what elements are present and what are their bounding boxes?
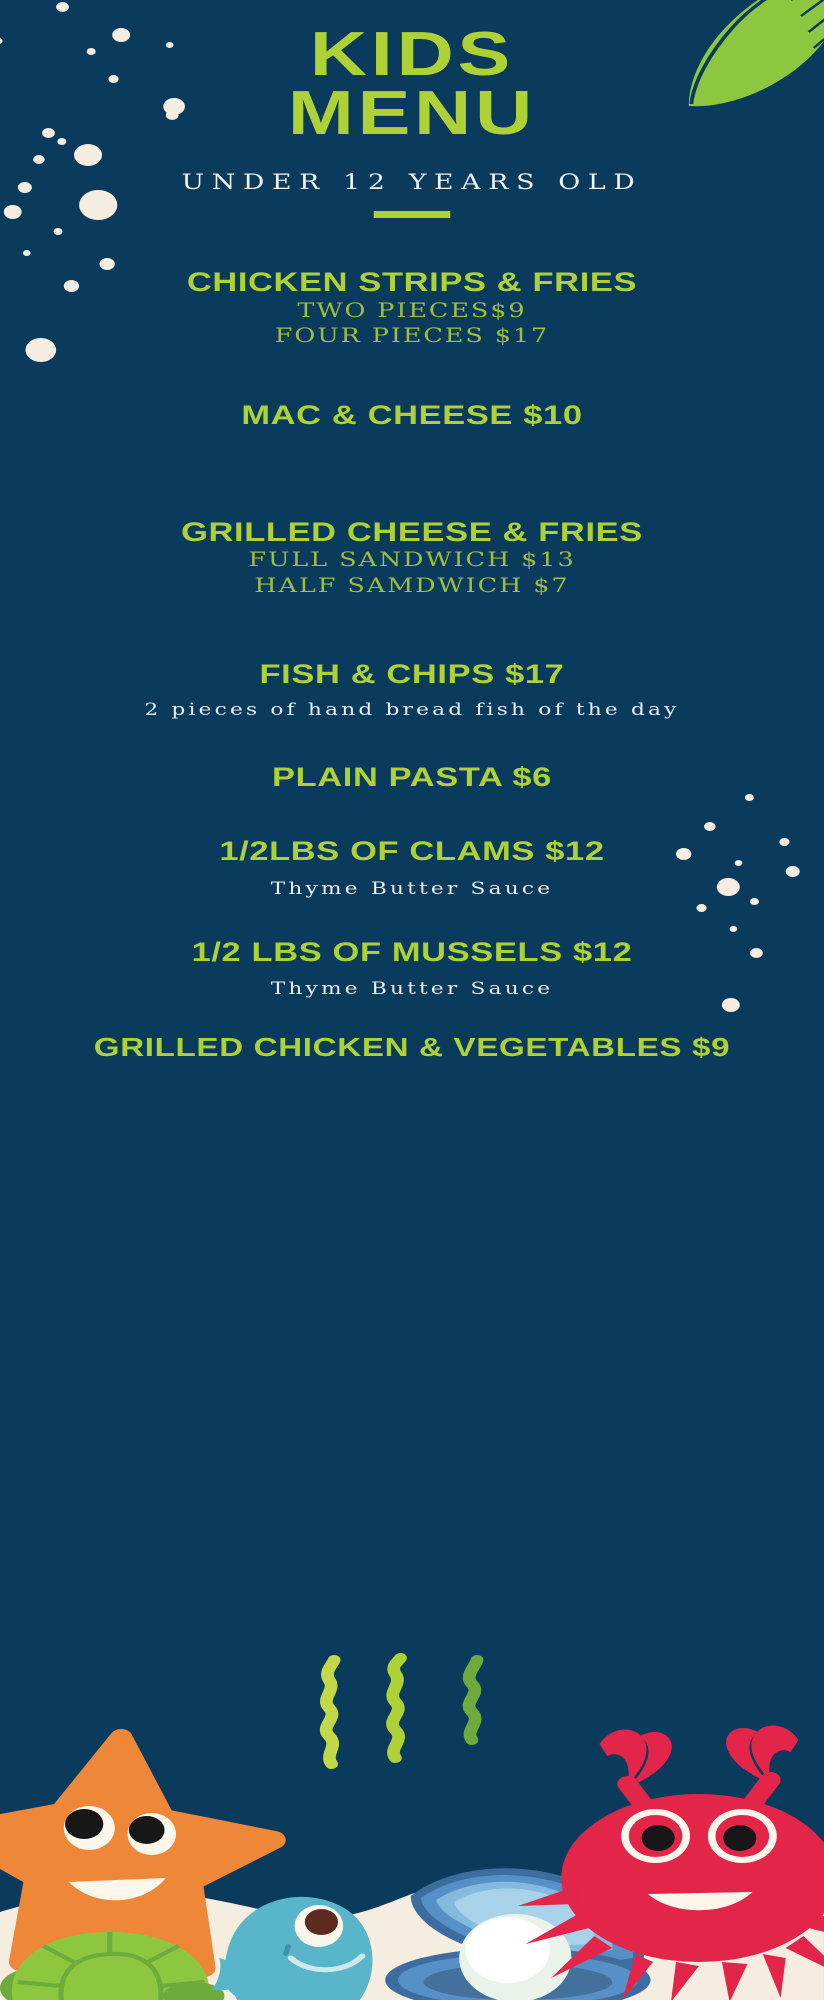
menu-item-sub-1: Thyme Butter Sauce: [0, 877, 824, 902]
menu-item-sub-1: FULL SANDWICH $13: [0, 547, 824, 573]
menu-list: CHICKEN STRIPS & FRIES TWO PIECES$9 FOUR…: [0, 268, 824, 1060]
menu-item: GRILLED CHICKEN & VEGETABLES $9: [0, 1036, 824, 1060]
seafloor-illustration: [0, 1700, 824, 2000]
menu-item: FISH & CHIPS $17 2 pieces of hand bread …: [0, 660, 824, 722]
menu-item-sub-1: Thyme Butter Sauce: [0, 977, 824, 1002]
poster-header: KIDS MENU UNDER 12 YEARS OLD: [0, 0, 824, 218]
menu-item: MAC & CHEESE $10: [0, 401, 824, 431]
menu-item-sub-1: TWO PIECES$9: [0, 298, 824, 324]
menu-item: PLAIN PASTA $6: [0, 763, 824, 793]
page-title: KIDS MENU: [0, 0, 824, 144]
menu-item-sub-2: FOUR PIECES $17: [0, 323, 824, 349]
kids-menu-poster: KIDS MENU UNDER 12 YEARS OLD CHICKEN STR…: [0, 0, 824, 2000]
menu-item-sub-1: 2 pieces of hand bread fish of the day: [0, 698, 824, 723]
menu-item: 1/2 LBS OF MUSSELS $12 Thyme Butter Sauc…: [0, 938, 824, 1002]
menu-item-sub-2: HALF SAMDWICH $7: [0, 573, 824, 599]
age-subtitle: UNDER 12 YEARS OLD: [0, 170, 824, 194]
menu-item-name: 1/2LBS OF CLAMS $12: [0, 837, 824, 867]
menu-item: CHICKEN STRIPS & FRIES TWO PIECES$9 FOUR…: [0, 268, 824, 349]
title-line-2: MENU: [0, 85, 824, 144]
menu-item-name: GRILLED CHICKEN & VEGETABLES $9: [0, 1036, 824, 1060]
menu-item-name: GRILLED CHEESE & FRIES: [0, 518, 824, 548]
menu-item-name: 1/2 LBS OF MUSSELS $12: [0, 938, 824, 968]
title-divider: [374, 211, 451, 218]
menu-item-name: PLAIN PASTA $6: [0, 763, 824, 793]
menu-item-name: CHICKEN STRIPS & FRIES: [0, 268, 824, 298]
menu-item-name: MAC & CHEESE $10: [0, 401, 824, 431]
menu-item: 1/2LBS OF CLAMS $12 Thyme Butter Sauce: [0, 837, 824, 901]
menu-item: GRILLED CHEESE & FRIES FULL SANDWICH $13…: [0, 518, 824, 599]
poster-canvas: KIDS MENU UNDER 12 YEARS OLD CHICKEN STR…: [0, 0, 824, 2000]
menu-item-name: FISH & CHIPS $17: [0, 660, 824, 690]
